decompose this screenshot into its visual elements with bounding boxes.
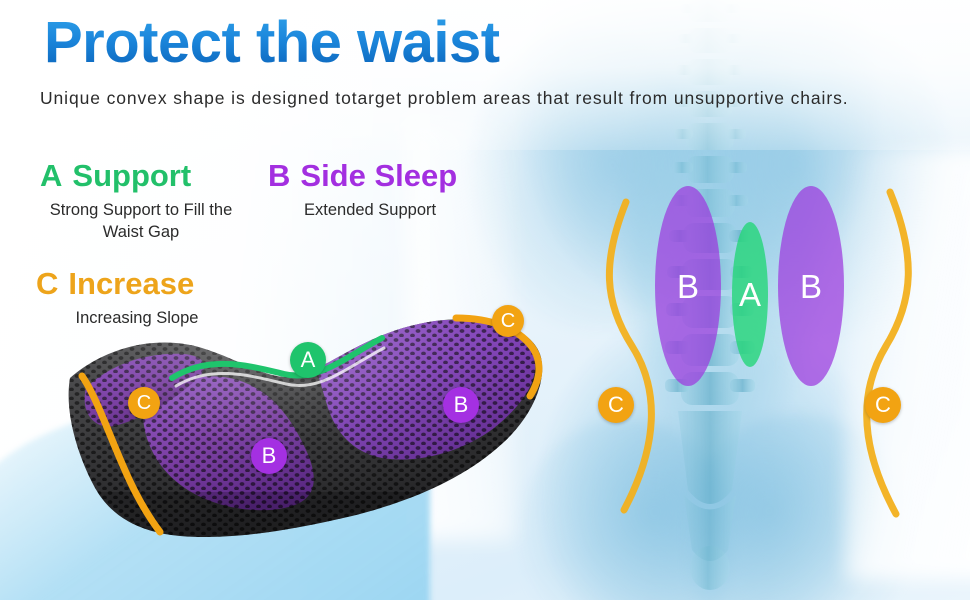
anatomy-zone-b-left: B [655, 186, 721, 386]
pillow-badge-a: A [290, 342, 326, 378]
pillow-bottom-shade [52, 492, 552, 562]
pillow-badge-c-right: C [492, 305, 524, 337]
feature-a-title: Support [72, 158, 191, 193]
feature-a-heading: ASupport [36, 160, 246, 191]
feature-b-description: Extended Support [268, 200, 518, 222]
pillow-badge-b-lower: B [251, 438, 287, 474]
page-title: Protect the waist [44, 14, 500, 72]
feature-b-heading: BSide Sleep [268, 160, 518, 191]
feature-block-b: BSide Sleep Extended Support [268, 160, 518, 222]
pillow-svg [52, 292, 552, 562]
feature-b-letter: B [268, 158, 290, 193]
product-image-lumbar-cushion: A B B C C [52, 292, 552, 562]
waist-curve-left [609, 202, 651, 510]
anatomy-badge-c-right: C [865, 387, 901, 423]
pillow-badge-c-left: C [128, 387, 160, 419]
feature-a-letter: A [40, 158, 62, 193]
anatomy-badge-c-left: C [598, 387, 634, 423]
page-subtitle: Unique convex shape is designed totarget… [40, 88, 940, 109]
anatomy-zone-a: A [732, 222, 768, 367]
pillow-body [52, 292, 552, 562]
waist-curve-right [867, 192, 909, 514]
anatomy-overlay: B A B C C [560, 150, 970, 600]
pillow-badge-b-right: B [443, 387, 479, 423]
feature-a-description: Strong Support to Fill the Waist Gap [36, 200, 246, 244]
anatomy-zone-b-right: B [778, 186, 844, 386]
product-infographic: Protect the waist Unique convex shape is… [0, 0, 970, 600]
feature-block-a: ASupport Strong Support to Fill the Wais… [36, 160, 246, 244]
waist-curve-svg [560, 150, 970, 600]
feature-b-title: Side Sleep [300, 158, 457, 193]
